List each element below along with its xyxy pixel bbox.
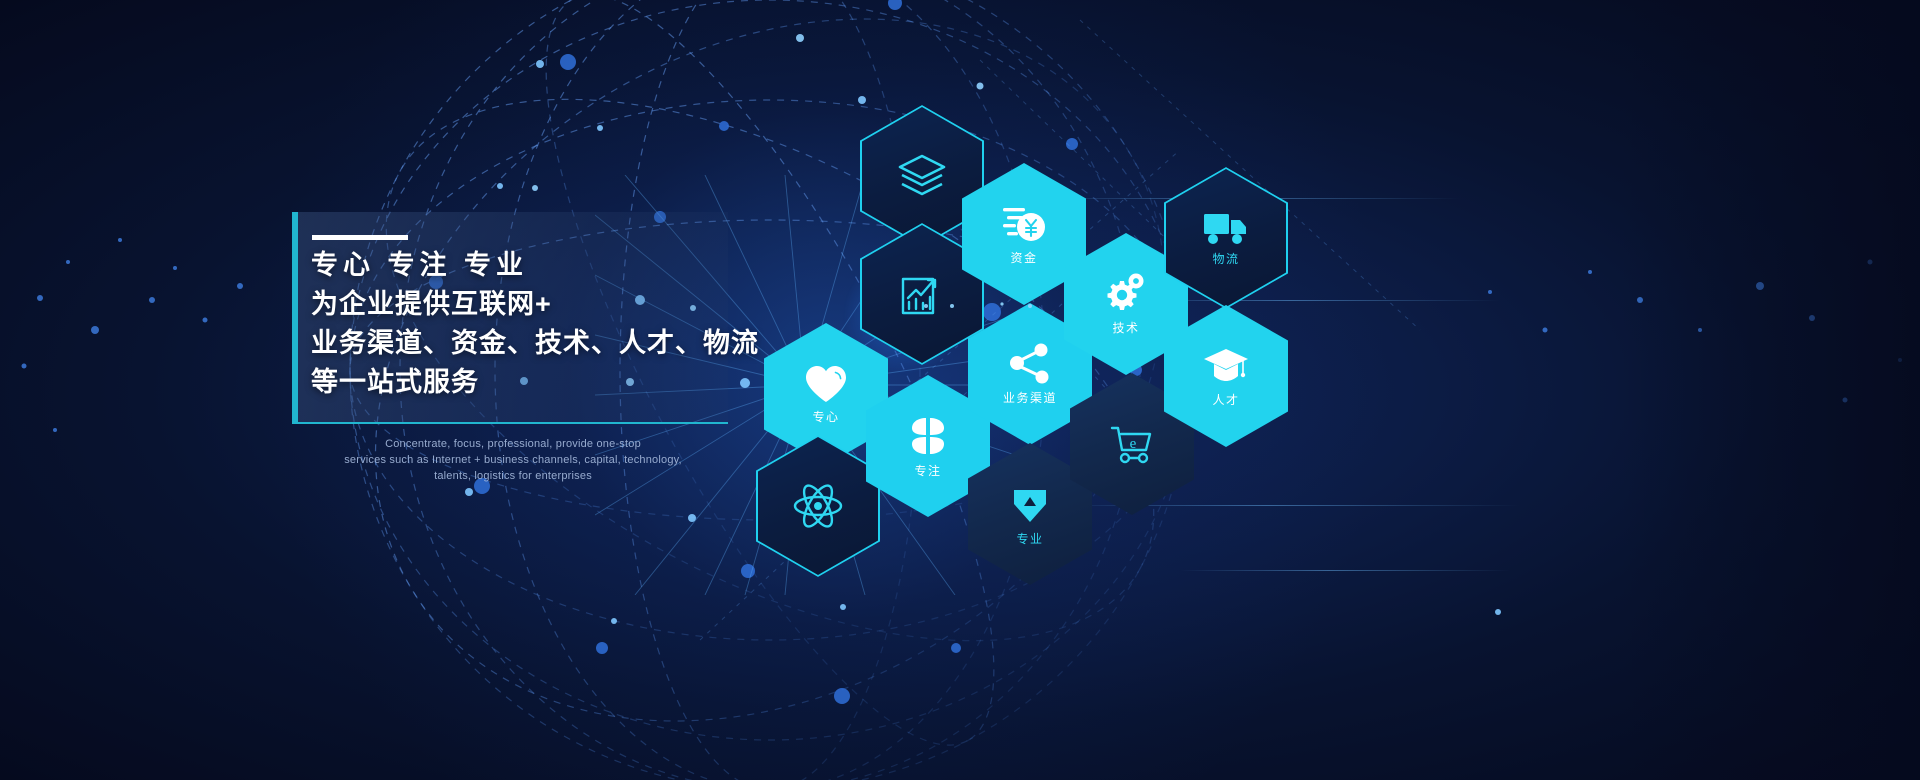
headline-line-4: 等一站式服务 xyxy=(311,363,781,402)
headline-line-2: 为企业提供互联网+ xyxy=(311,285,781,324)
atom-icon xyxy=(792,482,844,530)
hex-focus-label: 专心 xyxy=(812,408,839,425)
shopping-cart-e-icon: e xyxy=(1108,422,1156,466)
hex-talent-label: 人才 xyxy=(1212,391,1239,408)
subtitle-line-2: services such as Internet + business cha… xyxy=(288,452,738,468)
hex-attention-label: 专注 xyxy=(914,462,941,479)
right-edge-fade xyxy=(1620,0,1920,780)
diamond-icon xyxy=(1008,482,1052,526)
hex-logistics-label: 物流 xyxy=(1212,250,1239,267)
headline-line-3: 业务渠道、资金、技术、人才、物流 xyxy=(311,324,781,363)
chart-report-icon xyxy=(899,271,945,317)
money-coin-icon xyxy=(1001,203,1047,245)
graduation-cap-icon xyxy=(1202,345,1250,387)
hexagon-cluster: 专心 xyxy=(740,105,1300,525)
headline-line-1: 专心 专注 专业 xyxy=(311,246,781,285)
hex-pro-label: 专业 xyxy=(1016,530,1043,547)
layers-icon xyxy=(896,152,948,200)
subtitle-line-1: Concentrate, focus, professional, provid… xyxy=(288,436,738,452)
share-network-icon xyxy=(1008,343,1052,385)
truck-icon xyxy=(1202,210,1250,246)
headline-rule xyxy=(312,235,408,240)
subtitle-line-3: talents, logistics for enterprises xyxy=(288,468,738,484)
hero-banner: 专心 专注 专业 为企业提供互联网+ 业务渠道、资金、技术、人才、物流 等一站式… xyxy=(0,0,1920,780)
heart-icon xyxy=(804,364,848,404)
hex-tech-label: 技术 xyxy=(1112,319,1139,336)
subtitle-text: Concentrate, focus, professional, provid… xyxy=(288,436,738,484)
clover-icon xyxy=(906,414,950,458)
hex-channels-label: 业务渠道 xyxy=(1003,389,1057,406)
hex-atom[interactable] xyxy=(756,435,880,577)
headline-text: 专心 专注 专业 为企业提供互联网+ 业务渠道、资金、技术、人才、物流 等一站式… xyxy=(311,246,781,402)
light-streak xyxy=(1180,570,1510,571)
svg-text:e: e xyxy=(1130,436,1137,452)
hex-capital-label: 资金 xyxy=(1010,249,1037,266)
gears-icon xyxy=(1103,273,1149,315)
